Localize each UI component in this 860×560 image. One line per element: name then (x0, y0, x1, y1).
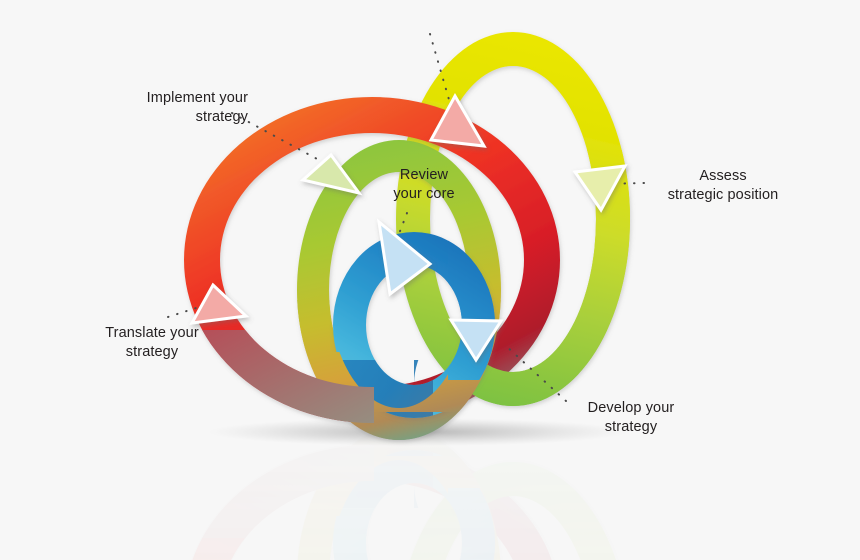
label-review-your-core: Review your core (364, 166, 484, 204)
label-translate-your-strategy: Translate your strategy (92, 324, 212, 362)
reflection (184, 428, 630, 560)
label-implement-your-strategy: Implement your strategy (118, 89, 248, 127)
label-develop-your-strategy: Develop your strategy (566, 399, 696, 437)
diagram-canvas: Implement your strategy Assess strategic… (0, 0, 860, 560)
strategy-cycle-graphic (0, 0, 860, 560)
ring-artwork (184, 32, 630, 440)
label-assess-strategic-position: Assess strategic position (648, 167, 798, 205)
